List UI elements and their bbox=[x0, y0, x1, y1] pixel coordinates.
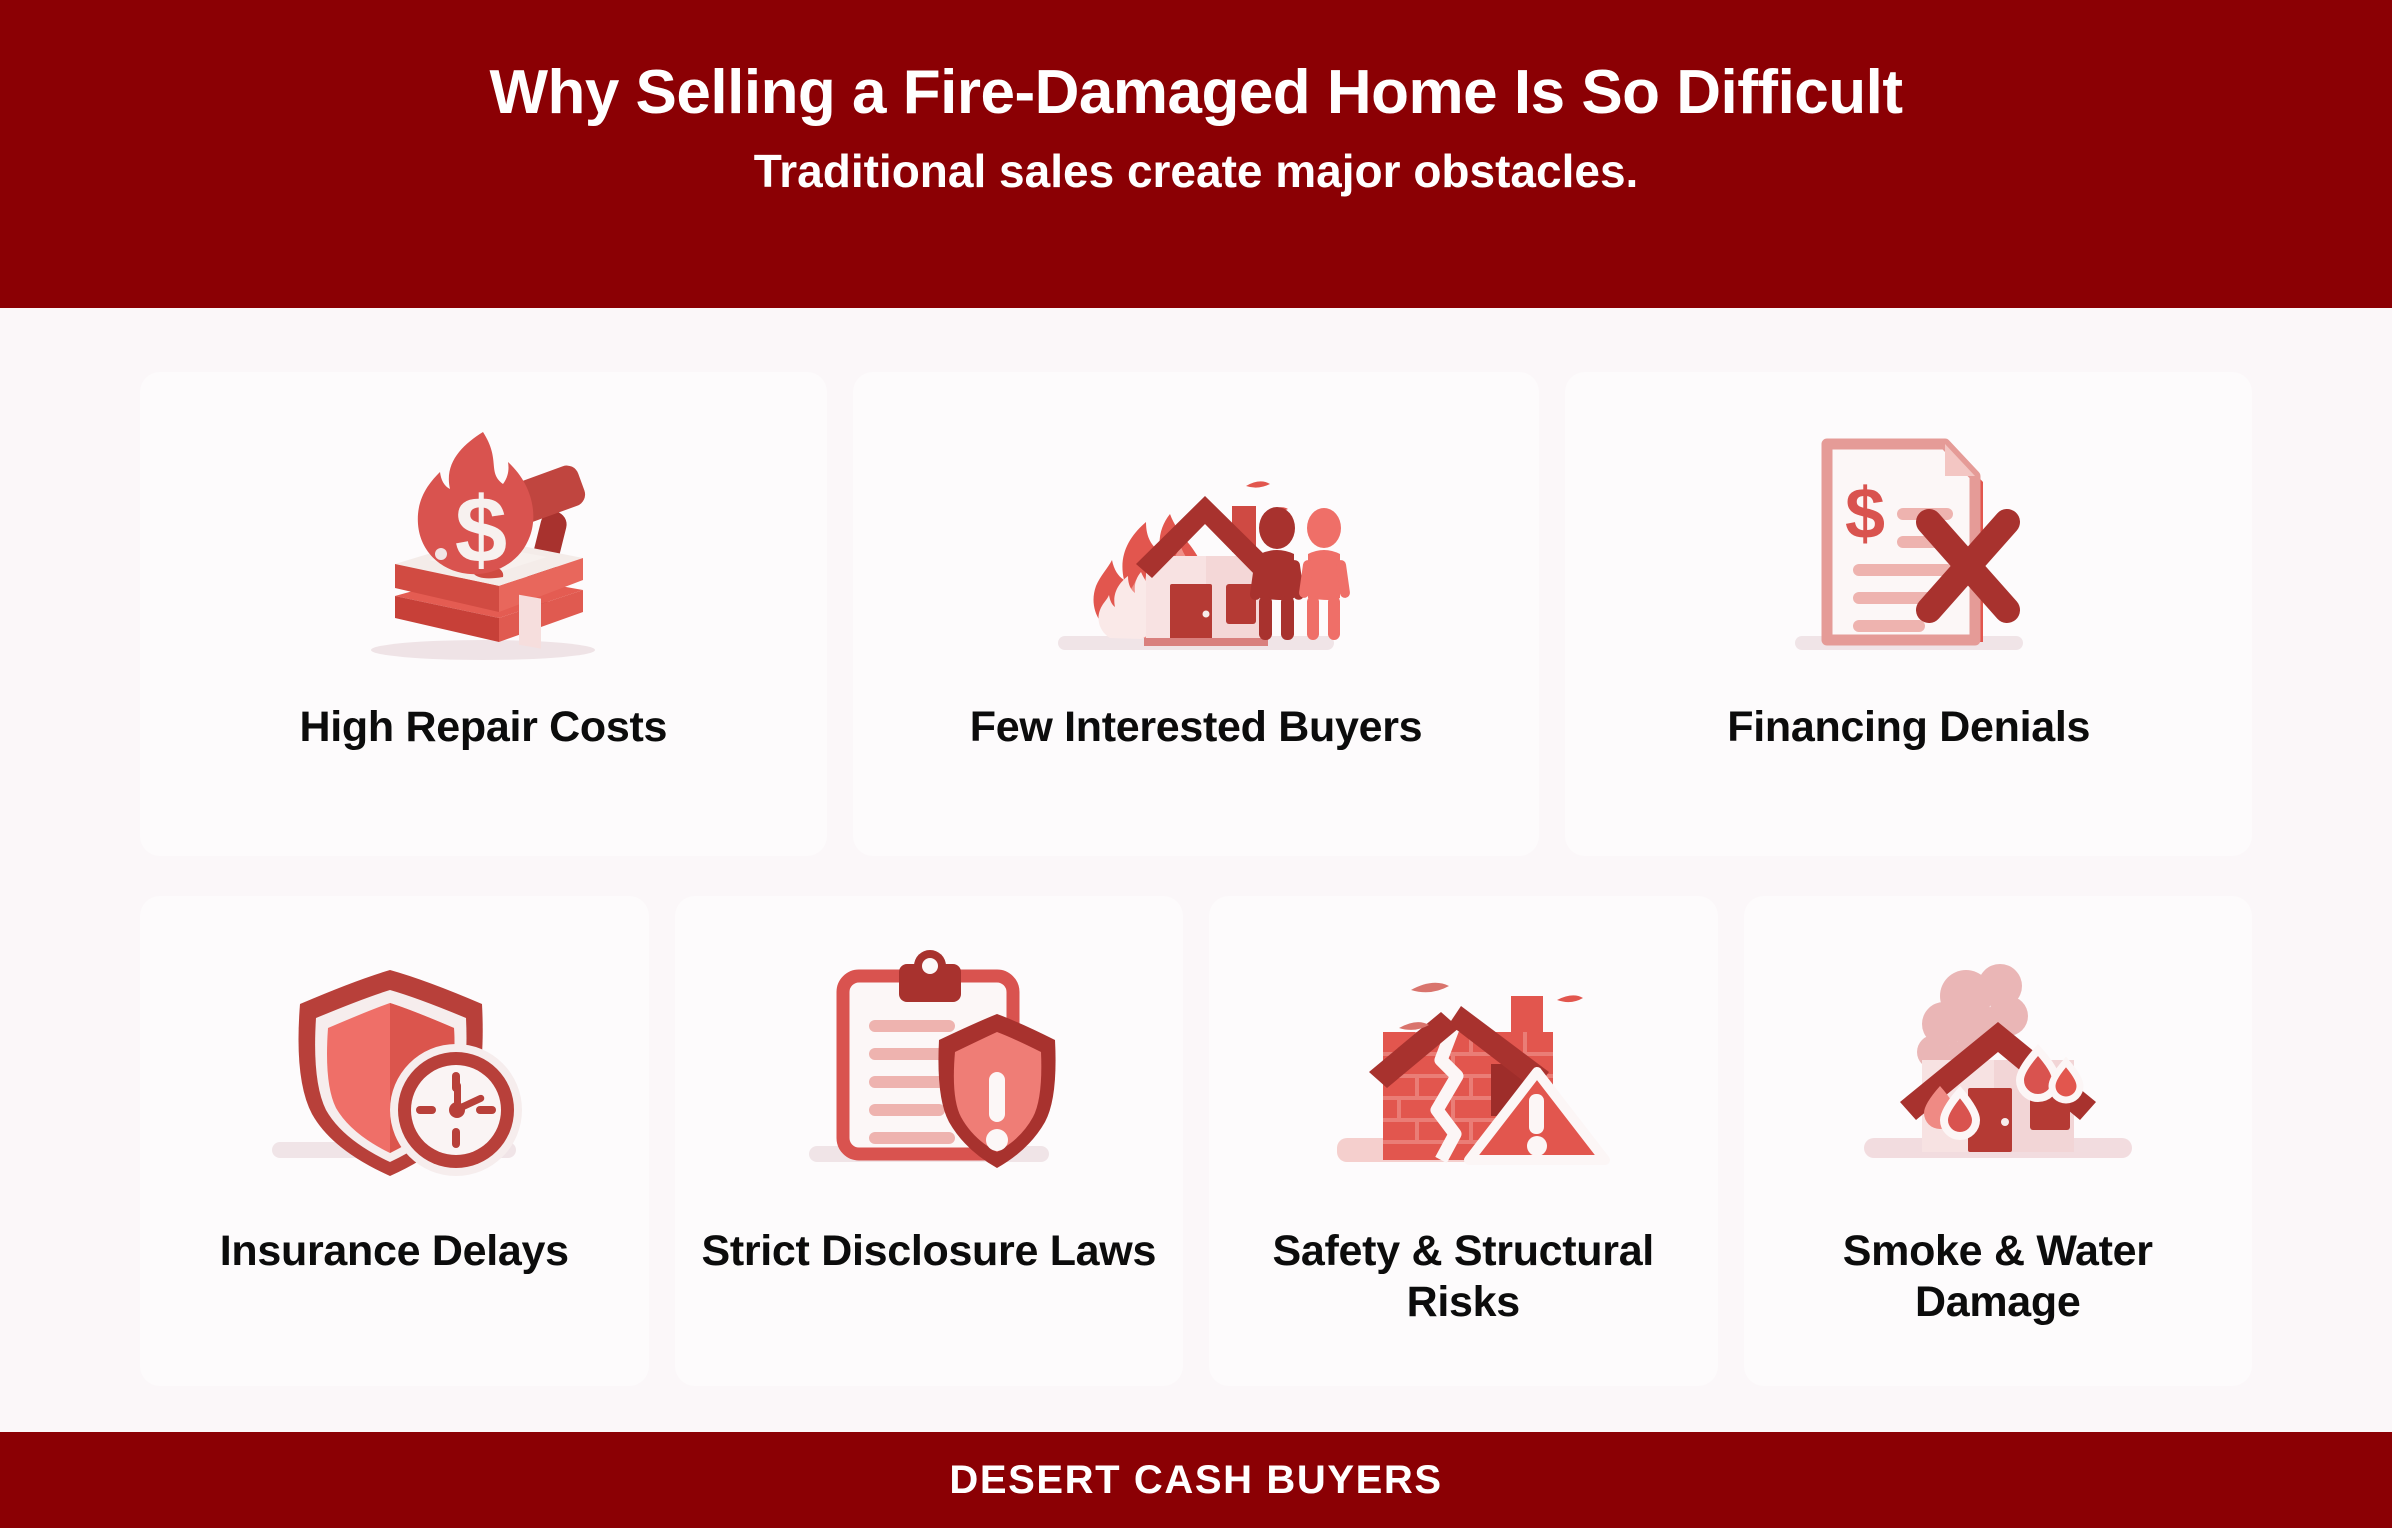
card-few-interested-buyers[interactable]: Few Interested Buyers bbox=[853, 372, 1540, 856]
infographic-page: Why Selling a Fire-Damaged Home Is So Di… bbox=[0, 0, 2392, 1528]
card-label: Insurance Delays bbox=[158, 1226, 631, 1277]
icon-container: $ bbox=[1749, 406, 2069, 692]
icon-container: $ bbox=[323, 406, 643, 692]
card-safety-structural-risks[interactable]: Safety & Structural Risks bbox=[1209, 896, 1718, 1386]
card-label: High Repair Costs bbox=[158, 702, 809, 753]
card-high-repair-costs[interactable]: $ High Repair Costs bbox=[140, 372, 827, 856]
burning-house-people-walking-away-icon bbox=[1036, 414, 1356, 684]
icon-container bbox=[234, 930, 554, 1216]
cards-grid: $ High Repair Costs bbox=[0, 308, 2392, 1432]
svg-text:$: $ bbox=[1845, 474, 1885, 554]
cracked-brick-house-warning-icon bbox=[1313, 942, 1613, 1204]
card-smoke-water-damage[interactable]: Smoke & Water Damage bbox=[1744, 896, 2253, 1386]
card-label: Few Interested Buyers bbox=[871, 702, 1522, 753]
flaming-dollar-money-hammer-icon: $ bbox=[333, 414, 633, 684]
brand-name: DESERT CASH BUYERS bbox=[949, 1458, 1442, 1503]
icon-container bbox=[1838, 930, 2158, 1216]
icon-container bbox=[1303, 930, 1623, 1216]
icon-container bbox=[1036, 406, 1356, 692]
card-label: Safety & Structural Risks bbox=[1227, 1226, 1700, 1327]
svg-text:$: $ bbox=[455, 477, 507, 582]
house-smoke-water-drops-icon bbox=[1848, 942, 2148, 1204]
icon-container bbox=[769, 930, 1089, 1216]
cards-row-1: $ High Repair Costs bbox=[140, 372, 2252, 856]
document-dollar-rejected-x-icon: $ bbox=[1769, 414, 2049, 684]
card-insurance-delays[interactable]: Insurance Delays bbox=[140, 896, 649, 1386]
footer-banner: DESERT CASH BUYERS bbox=[0, 1432, 2392, 1528]
page-subtitle: Traditional sales create major obstacles… bbox=[754, 148, 1639, 194]
card-label: Smoke & Water Damage bbox=[1762, 1226, 2235, 1327]
card-label: Financing Denials bbox=[1583, 702, 2234, 753]
card-label: Strict Disclosure Laws bbox=[693, 1226, 1166, 1277]
header-banner: Why Selling a Fire-Damaged Home Is So Di… bbox=[0, 0, 2392, 308]
clipboard-shield-alert-icon bbox=[789, 942, 1069, 1204]
card-strict-disclosure-laws[interactable]: Strict Disclosure Laws bbox=[675, 896, 1184, 1386]
shield-clock-icon bbox=[244, 942, 544, 1204]
card-financing-denials[interactable]: $ Financing Denials bbox=[1565, 372, 2252, 856]
cards-row-2: Insurance Delays bbox=[140, 896, 2252, 1386]
page-title: Why Selling a Fire-Damaged Home Is So Di… bbox=[489, 62, 1902, 124]
